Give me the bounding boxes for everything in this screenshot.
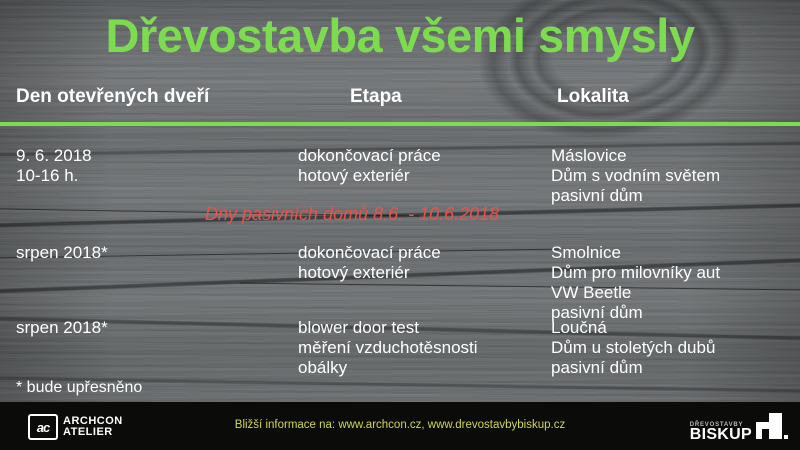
text-line: pasivní dům xyxy=(551,358,715,378)
text-line: Loučná xyxy=(551,318,715,338)
text-line: srpen 2018* xyxy=(16,318,108,338)
cell-etapa: dokončovací práce hotový exteriér xyxy=(298,146,441,186)
text-line: obálky xyxy=(298,358,478,378)
table-header-row: Den otevřených dveří Etapa Lokalita xyxy=(0,86,800,112)
text-line: měření vzduchotěsnosti xyxy=(298,338,478,358)
text-line: dokončovací práce xyxy=(298,146,441,166)
text-line: 10-16 h. xyxy=(16,166,92,186)
cell-lokalita: Loučná Dům u stoletých dubů pasivní dům xyxy=(551,318,715,378)
cell-lokalita: Máslovice Dům s vodním světem pasivní dů… xyxy=(551,146,720,206)
cell-den: srpen 2018* xyxy=(16,318,108,338)
page-title: Dřevostavba všemi smysly xyxy=(0,8,800,63)
column-header-etapa: Etapa xyxy=(350,86,402,108)
biskup-house-icon xyxy=(756,413,782,439)
text-line: Dům u stoletých dubů xyxy=(551,338,715,358)
cell-den: 9. 6. 2018 10-16 h. xyxy=(16,146,92,186)
cell-etapa: blower door test měření vzduchotěsnosti … xyxy=(298,318,478,378)
column-header-lokalita: Lokalita xyxy=(557,86,629,108)
text-line: srpen 2018* xyxy=(16,243,108,263)
cell-lokalita: Smolnice Dům pro milovníky aut VW Beetle… xyxy=(551,243,720,323)
text-line: blower door test xyxy=(298,318,478,338)
poster: Dřevostavba všemi smysly Den otevřených … xyxy=(0,0,800,450)
text-line: Máslovice xyxy=(551,146,720,166)
text-line: hotový exteriér xyxy=(298,263,441,283)
text-line: Dům pro milovníky aut xyxy=(551,263,720,283)
footer-bar: ac ARCHCON ATELIER Bližší informace na: … xyxy=(0,402,800,450)
biskup-name: BISKUP xyxy=(690,430,752,439)
footnote: * bude upřesněno xyxy=(16,379,142,397)
text-line: Smolnice xyxy=(551,243,720,263)
text-line: 9. 6. 2018 xyxy=(16,146,92,166)
cell-etapa: dokončovací práce hotový exteriér xyxy=(298,243,441,283)
highlight-note: Dny pasivních domů 8.6. - 10.6.2018 xyxy=(205,204,499,225)
text-line: VW Beetle xyxy=(551,283,720,303)
biskup-wordmark: DŘEVOSTAVBY BISKUP xyxy=(690,421,752,439)
logo-biskup: DŘEVOSTAVBY BISKUP xyxy=(690,413,782,439)
cell-den: srpen 2018* xyxy=(16,243,108,263)
text-line: Dům s vodním světem xyxy=(551,166,720,186)
header-divider xyxy=(0,122,800,126)
footer-info-text: Bližší informace na: www.archcon.cz, www… xyxy=(0,419,800,431)
text-line: dokončovací práce xyxy=(298,243,441,263)
text-line: hotový exteriér xyxy=(298,166,441,186)
text-line: pasivní dům xyxy=(551,186,720,206)
column-header-den: Den otevřených dveří xyxy=(16,86,209,108)
biskup-dot xyxy=(784,435,788,439)
